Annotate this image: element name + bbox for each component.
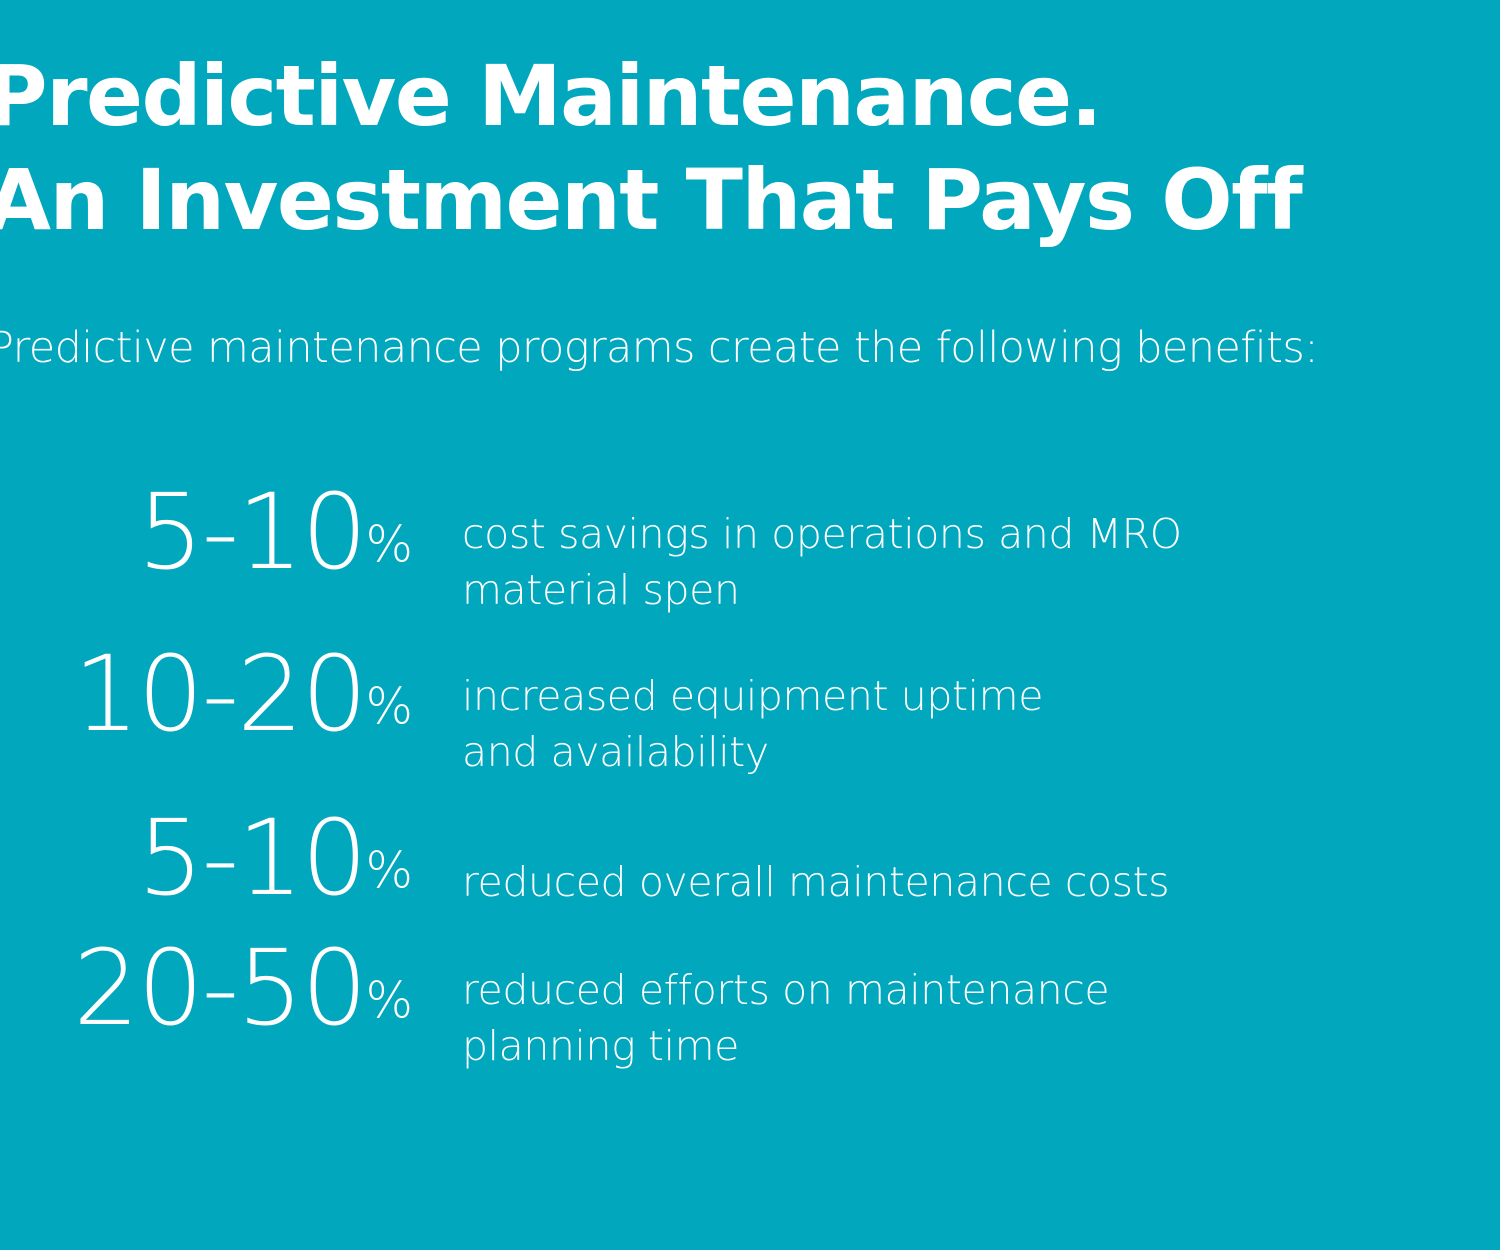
stat-value: 5-10 [137, 471, 365, 593]
stat-figure: 5-10% [0, 480, 412, 584]
stat-description-line-2: and availability [462, 724, 1500, 780]
stat-value: 10-20 [73, 633, 365, 755]
stat-figure: 20-50% [0, 936, 412, 1040]
page-title: Predictive Maintenance. An Investment Th… [0, 44, 1486, 252]
subtitle: Predictive maintenance programs create t… [0, 320, 1318, 376]
stat-figure: 10-20% [0, 642, 412, 746]
stat-value: 5-10 [137, 797, 365, 919]
stat-description-line-1: cost savings in operations and MRO [462, 506, 1500, 562]
title-line-2: An Investment That Pays Off [0, 148, 1486, 252]
list-item: 10-20% increased equipment uptime and av… [0, 642, 1500, 780]
list-item: 20-50% reduced efforts on maintenance pl… [0, 936, 1500, 1074]
title-line-1: Predictive Maintenance. [0, 44, 1486, 148]
stat-description-line-1: reduced overall maintenance costs [462, 854, 1500, 910]
stat-description-line-2: planning time [462, 1018, 1500, 1074]
stat-description-line-2: material spen [462, 562, 1500, 618]
stat-description: reduced efforts on maintenance planning … [412, 936, 1500, 1074]
stat-description: increased equipment uptime and availabil… [412, 642, 1500, 780]
stat-unit: % [365, 678, 412, 736]
list-item: 5-10% cost savings in operations and MRO… [0, 480, 1500, 618]
stat-description-line-1: reduced efforts on maintenance [462, 962, 1500, 1018]
stat-unit: % [365, 972, 412, 1030]
slide-root: Predictive Maintenance. An Investment Th… [0, 0, 1500, 1250]
stat-description: reduced overall maintenance costs [412, 806, 1500, 910]
stat-unit: % [365, 842, 412, 900]
stat-description-line-1: increased equipment uptime [462, 668, 1500, 724]
list-item: 5-10% reduced overall maintenance costs [0, 806, 1500, 910]
benefits-list: 5-10% cost savings in operations and MRO… [0, 480, 1500, 1074]
stat-unit: % [365, 516, 412, 574]
stat-value: 20-50 [73, 927, 365, 1049]
stat-figure: 5-10% [0, 806, 412, 910]
stat-description: cost savings in operations and MRO mater… [412, 480, 1500, 618]
